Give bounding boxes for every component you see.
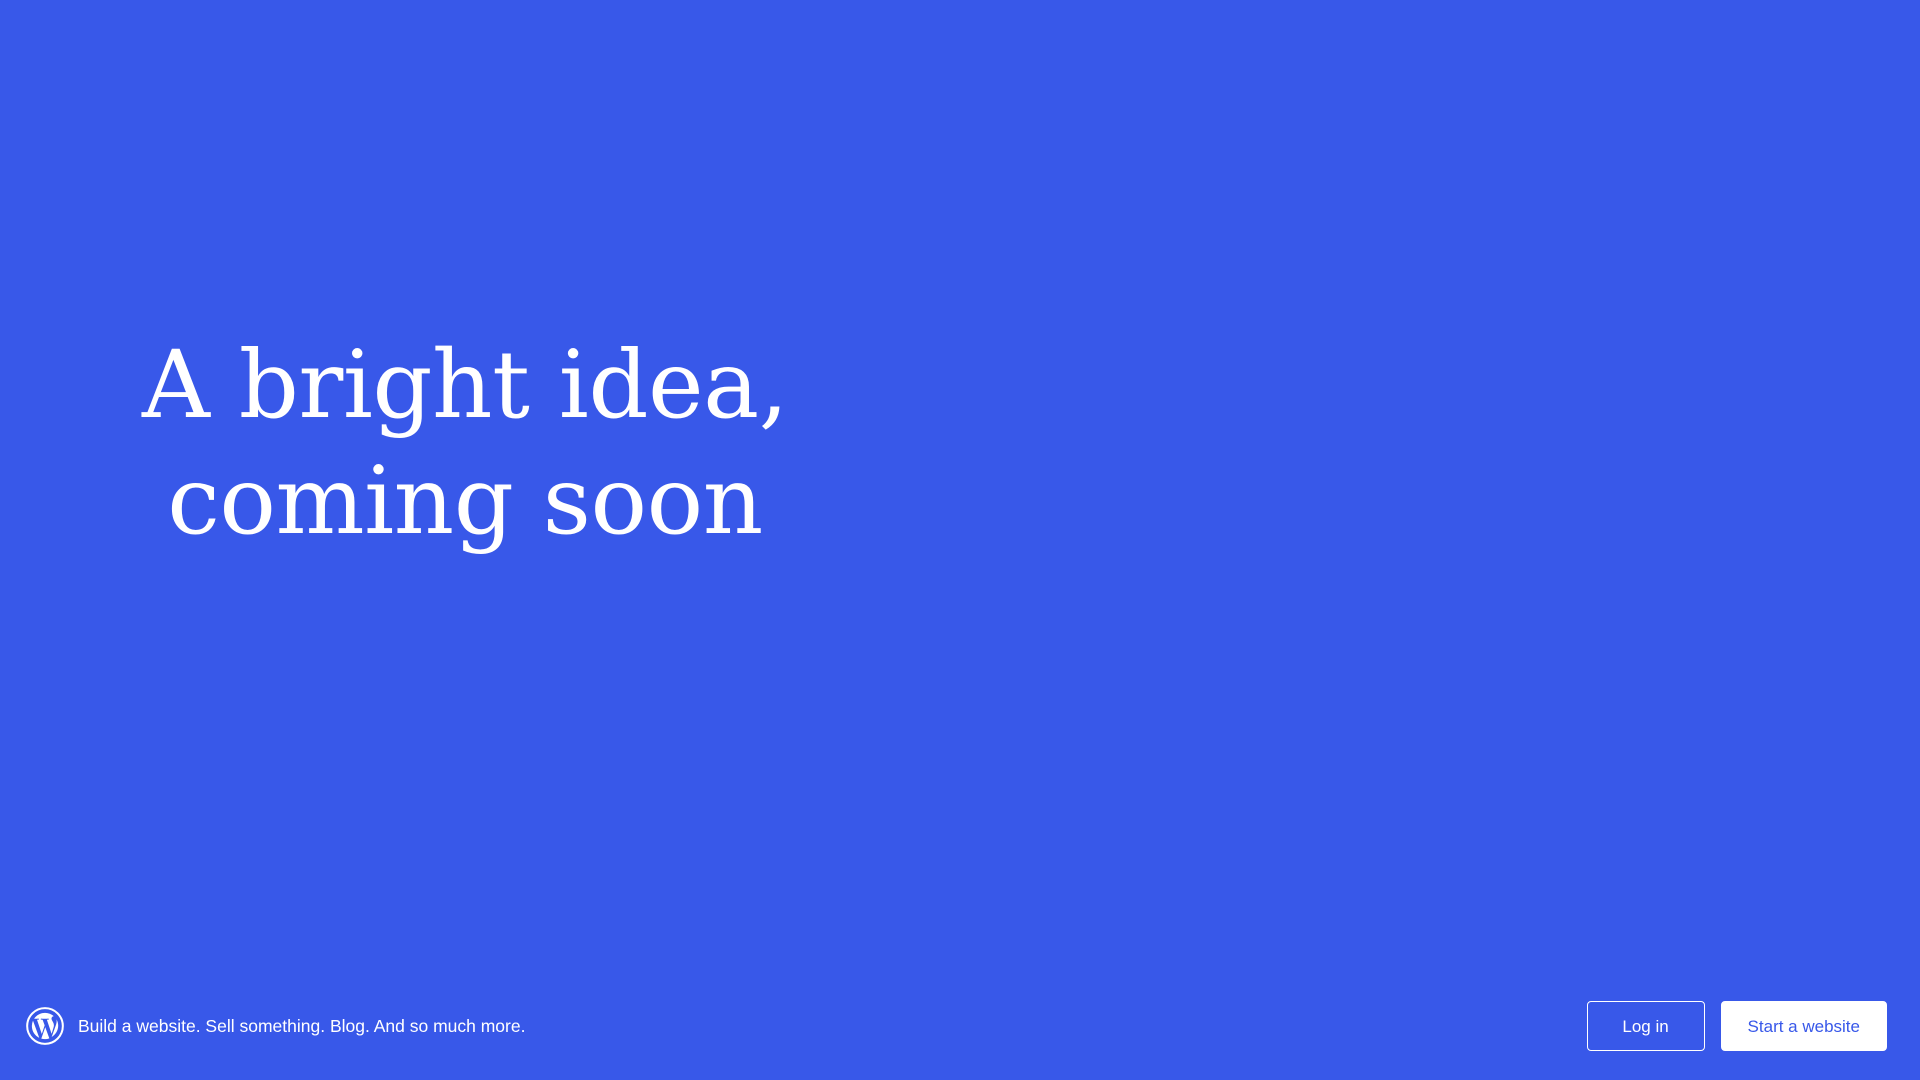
- page-title: A bright idea, coming soon: [142, 328, 788, 560]
- start-a-website-button[interactable]: Start a website: [1721, 1001, 1887, 1051]
- footer-tagline: Build a website. Sell something. Blog. A…: [78, 1015, 525, 1038]
- wordpress-logo-icon[interactable]: [26, 1007, 64, 1045]
- hero-section: A bright idea, coming soon: [0, 0, 1920, 972]
- hero-content: A bright idea, coming soon: [0, 0, 930, 972]
- login-button[interactable]: Log in: [1587, 1001, 1705, 1051]
- footer-bar: Build a website. Sell something. Blog. A…: [0, 972, 1920, 1080]
- footer-branding: Build a website. Sell something. Blog. A…: [26, 1007, 1587, 1045]
- coming-soon-page: A bright idea, coming soon Build a websi…: [0, 0, 1920, 1080]
- footer-actions: Log in Start a website: [1587, 1001, 1887, 1051]
